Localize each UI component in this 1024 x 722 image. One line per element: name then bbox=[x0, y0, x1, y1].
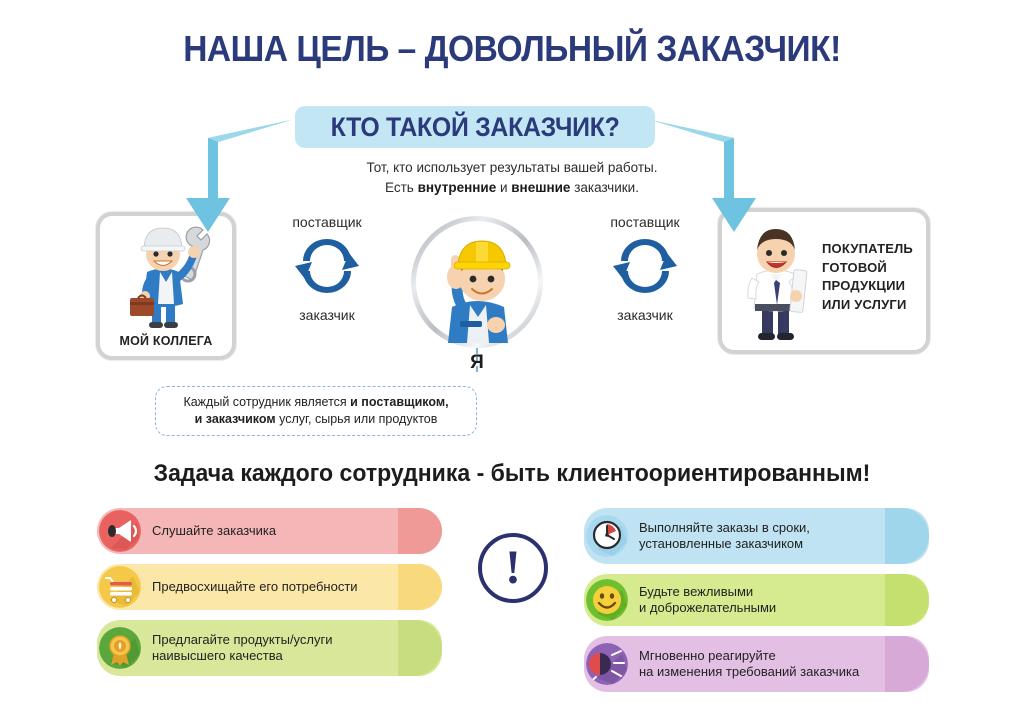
pill-cap bbox=[885, 574, 929, 626]
elbow-arrow-left-icon bbox=[178, 118, 293, 236]
pill-cap bbox=[885, 508, 929, 564]
worker-pointing-up-illustration bbox=[416, 221, 538, 343]
callout-bold-supplier: и поставщиком, bbox=[350, 395, 448, 409]
pill-label: Выполняйте заказы в сроки, установленные… bbox=[639, 520, 854, 553]
center-worker-ring bbox=[411, 216, 543, 348]
pill-anticipate-needs[interactable]: Предвосхищайте его потребности bbox=[97, 564, 442, 610]
pill-be-polite[interactable]: Будьте вежливыми и доброжелательными bbox=[584, 574, 929, 626]
pill-meet-deadlines[interactable]: Выполняйте заказы в сроки, установленные… bbox=[584, 508, 929, 564]
exclamation-glyph: ! bbox=[505, 540, 521, 596]
page-title: НАША ЦЕЛЬ – ДОВОЛЬНЫЙ ЗАКАЗЧИК! bbox=[36, 28, 988, 70]
pill-label: Предвосхищайте его потребности bbox=[152, 579, 402, 596]
banner-kto-takoy-zakazchik: КТО ТАКОЙ ЗАКАЗЧИК? bbox=[295, 106, 655, 148]
cycle-arrows-icon bbox=[293, 235, 361, 297]
pill-listen-to-customer[interactable]: Слушайте заказчика bbox=[97, 508, 442, 554]
clock-icon bbox=[586, 515, 628, 557]
definition-bold-internal: внутренние bbox=[418, 180, 497, 195]
pill-label: Мгновенно реагируйте на изменения требов… bbox=[639, 648, 903, 681]
callout-bold-customer: и заказчиком bbox=[195, 412, 276, 426]
definition-text: Тот, кто использует результаты вашей раб… bbox=[0, 158, 1024, 198]
callout-line-1: Каждый сотрудник является и поставщиком, bbox=[183, 394, 448, 411]
smiley-icon bbox=[586, 579, 628, 621]
award-ribbon-icon bbox=[99, 627, 141, 669]
cycle-left-bottom-label: заказчик bbox=[272, 307, 382, 323]
elbow-arrow-right-icon bbox=[646, 118, 764, 236]
callout-suffix: услуг, сырья или продуктов bbox=[276, 412, 438, 426]
pill-cap bbox=[398, 508, 442, 554]
lightning-alert-icon bbox=[586, 643, 628, 685]
definition-prefix: Есть bbox=[385, 180, 418, 195]
definition-line-2: Есть внутренние и внешние заказчики. bbox=[0, 178, 1024, 198]
pill-label: Будьте вежливыми и доброжелательными bbox=[639, 584, 820, 617]
pill-react-instantly[interactable]: Мгновенно реагируйте на изменения требов… bbox=[584, 636, 929, 692]
card-left-caption: МОЙ КОЛЛЕГА bbox=[100, 334, 232, 348]
card-right-caption: ПОКУПАТЕЛЬГОТОВОЙПРОДУКЦИИИЛИ УСЛУГИ bbox=[822, 240, 913, 314]
shopping-cart-icon bbox=[99, 566, 141, 608]
megaphone-icon bbox=[99, 510, 141, 552]
callout-line-2: и заказчиком услуг, сырья или продуктов bbox=[195, 411, 438, 428]
callout-prefix: Каждый сотрудник является bbox=[183, 395, 350, 409]
pill-list-right: Выполняйте заказы в сроки, установленные… bbox=[584, 508, 929, 702]
banner-label: КТО ТАКОЙ ЗАКАЗЧИК? bbox=[331, 112, 620, 143]
pill-highest-quality[interactable]: Предлагайте продукты/услуги наивысшего к… bbox=[97, 620, 442, 676]
pill-cap bbox=[398, 620, 442, 676]
pill-list-left: Слушайте заказчика Предвосхищайте его по… bbox=[97, 508, 442, 686]
pill-cap bbox=[398, 564, 442, 610]
pill-label: Предлагайте продукты/услуги наивысшего к… bbox=[152, 632, 377, 665]
pill-cap bbox=[885, 636, 929, 692]
definition-line-1: Тот, кто использует результаты вашей раб… bbox=[0, 158, 1024, 178]
section-heading: Задача каждого сотрудника - быть клиенто… bbox=[20, 460, 1003, 488]
definition-suffix: заказчики. bbox=[570, 180, 639, 195]
center-me-label: Я bbox=[411, 352, 543, 374]
cycle-right-bottom-label: заказчик bbox=[590, 307, 700, 323]
pill-label: Слушайте заказчика bbox=[152, 523, 320, 540]
callout-every-employee: Каждый сотрудник является и поставщиком,… bbox=[155, 386, 477, 436]
definition-bold-external: внешние bbox=[511, 180, 570, 195]
exclamation-badge: ! bbox=[478, 533, 548, 603]
definition-mid: и bbox=[496, 180, 511, 195]
cycle-arrows-icon bbox=[611, 235, 679, 297]
businessman-illustration bbox=[730, 220, 822, 350]
